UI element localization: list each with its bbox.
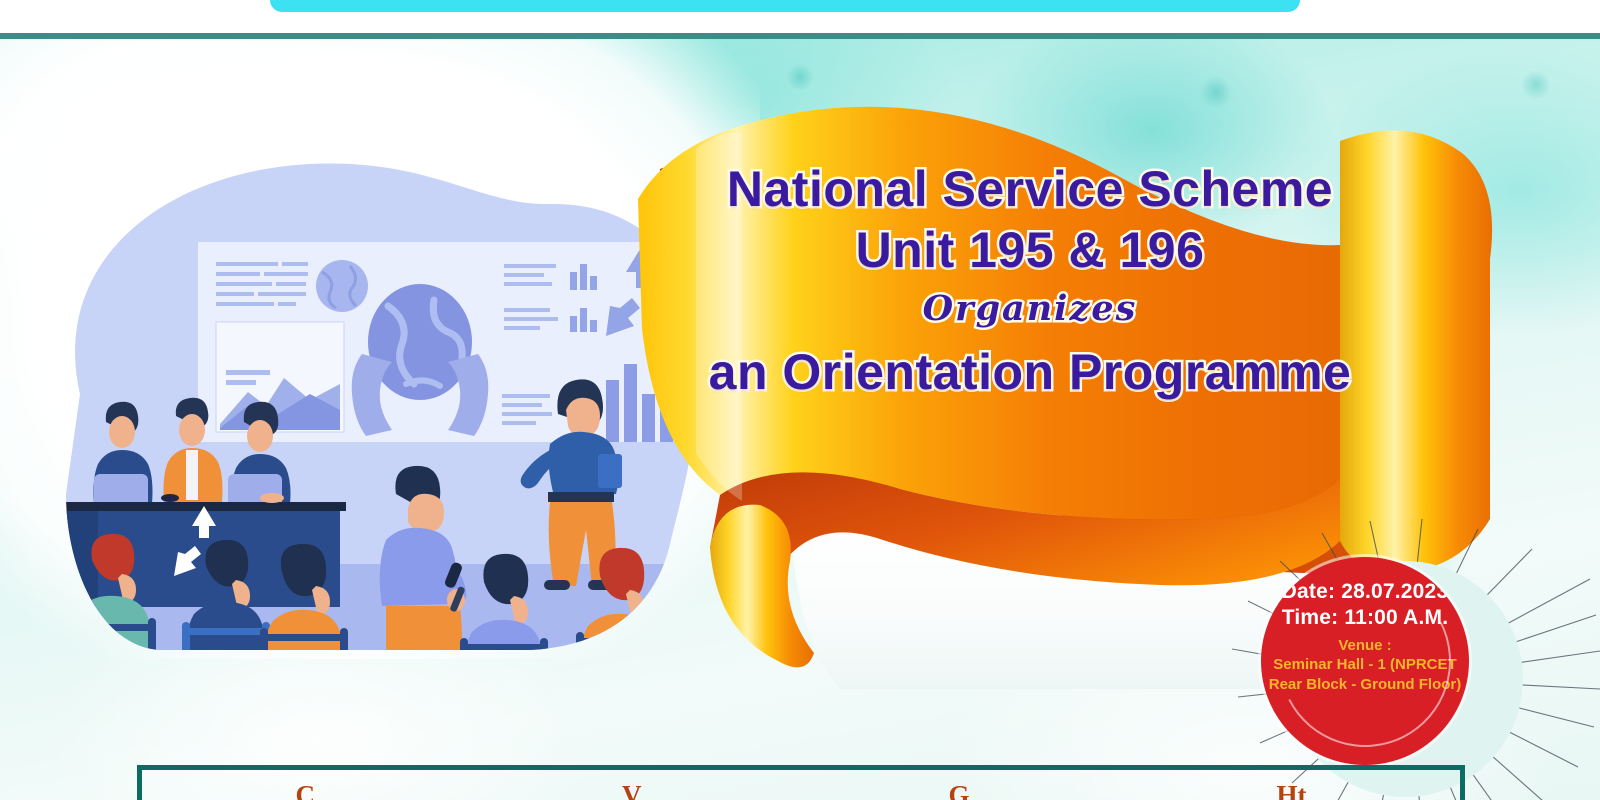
ribbon-face — [638, 107, 1340, 520]
bottom-item-2: V — [622, 780, 642, 800]
badge-venue-line-1: Seminar Hall - 1 (NPRCET — [1273, 655, 1456, 675]
bottom-item-3: G — [948, 780, 969, 800]
bottom-item-1: C — [295, 780, 315, 800]
top-cyan-tab — [270, 0, 1300, 12]
badge-date: Date: 28.07.2023 — [1282, 579, 1449, 605]
screen-small-globe — [316, 260, 368, 312]
bottom-frame-row: C V G Ht — [142, 780, 1460, 800]
top-teal-divider — [0, 33, 1600, 39]
bottom-frame-box: C V G Ht — [137, 765, 1465, 800]
poster-canvas: National Service Scheme Unit 195 & 196 O… — [0, 0, 1600, 800]
ribbon-right-roll — [1340, 130, 1492, 573]
bottom-item-4: Ht — [1276, 780, 1306, 800]
poster-background: National Service Scheme Unit 195 & 196 O… — [0, 39, 1600, 800]
badge-venue-line-2: Rear Block - Ground Floor) — [1269, 675, 1462, 695]
event-details-badge: Date: 28.07.2023 Time: 11:00 A.M. Venue … — [1261, 557, 1469, 765]
ribbon-highlight — [696, 133, 742, 501]
badge-venue-label: Venue : — [1338, 636, 1391, 655]
screen-area-chart — [216, 322, 344, 432]
badge-time: Time: 11:00 A.M. — [1282, 605, 1449, 631]
